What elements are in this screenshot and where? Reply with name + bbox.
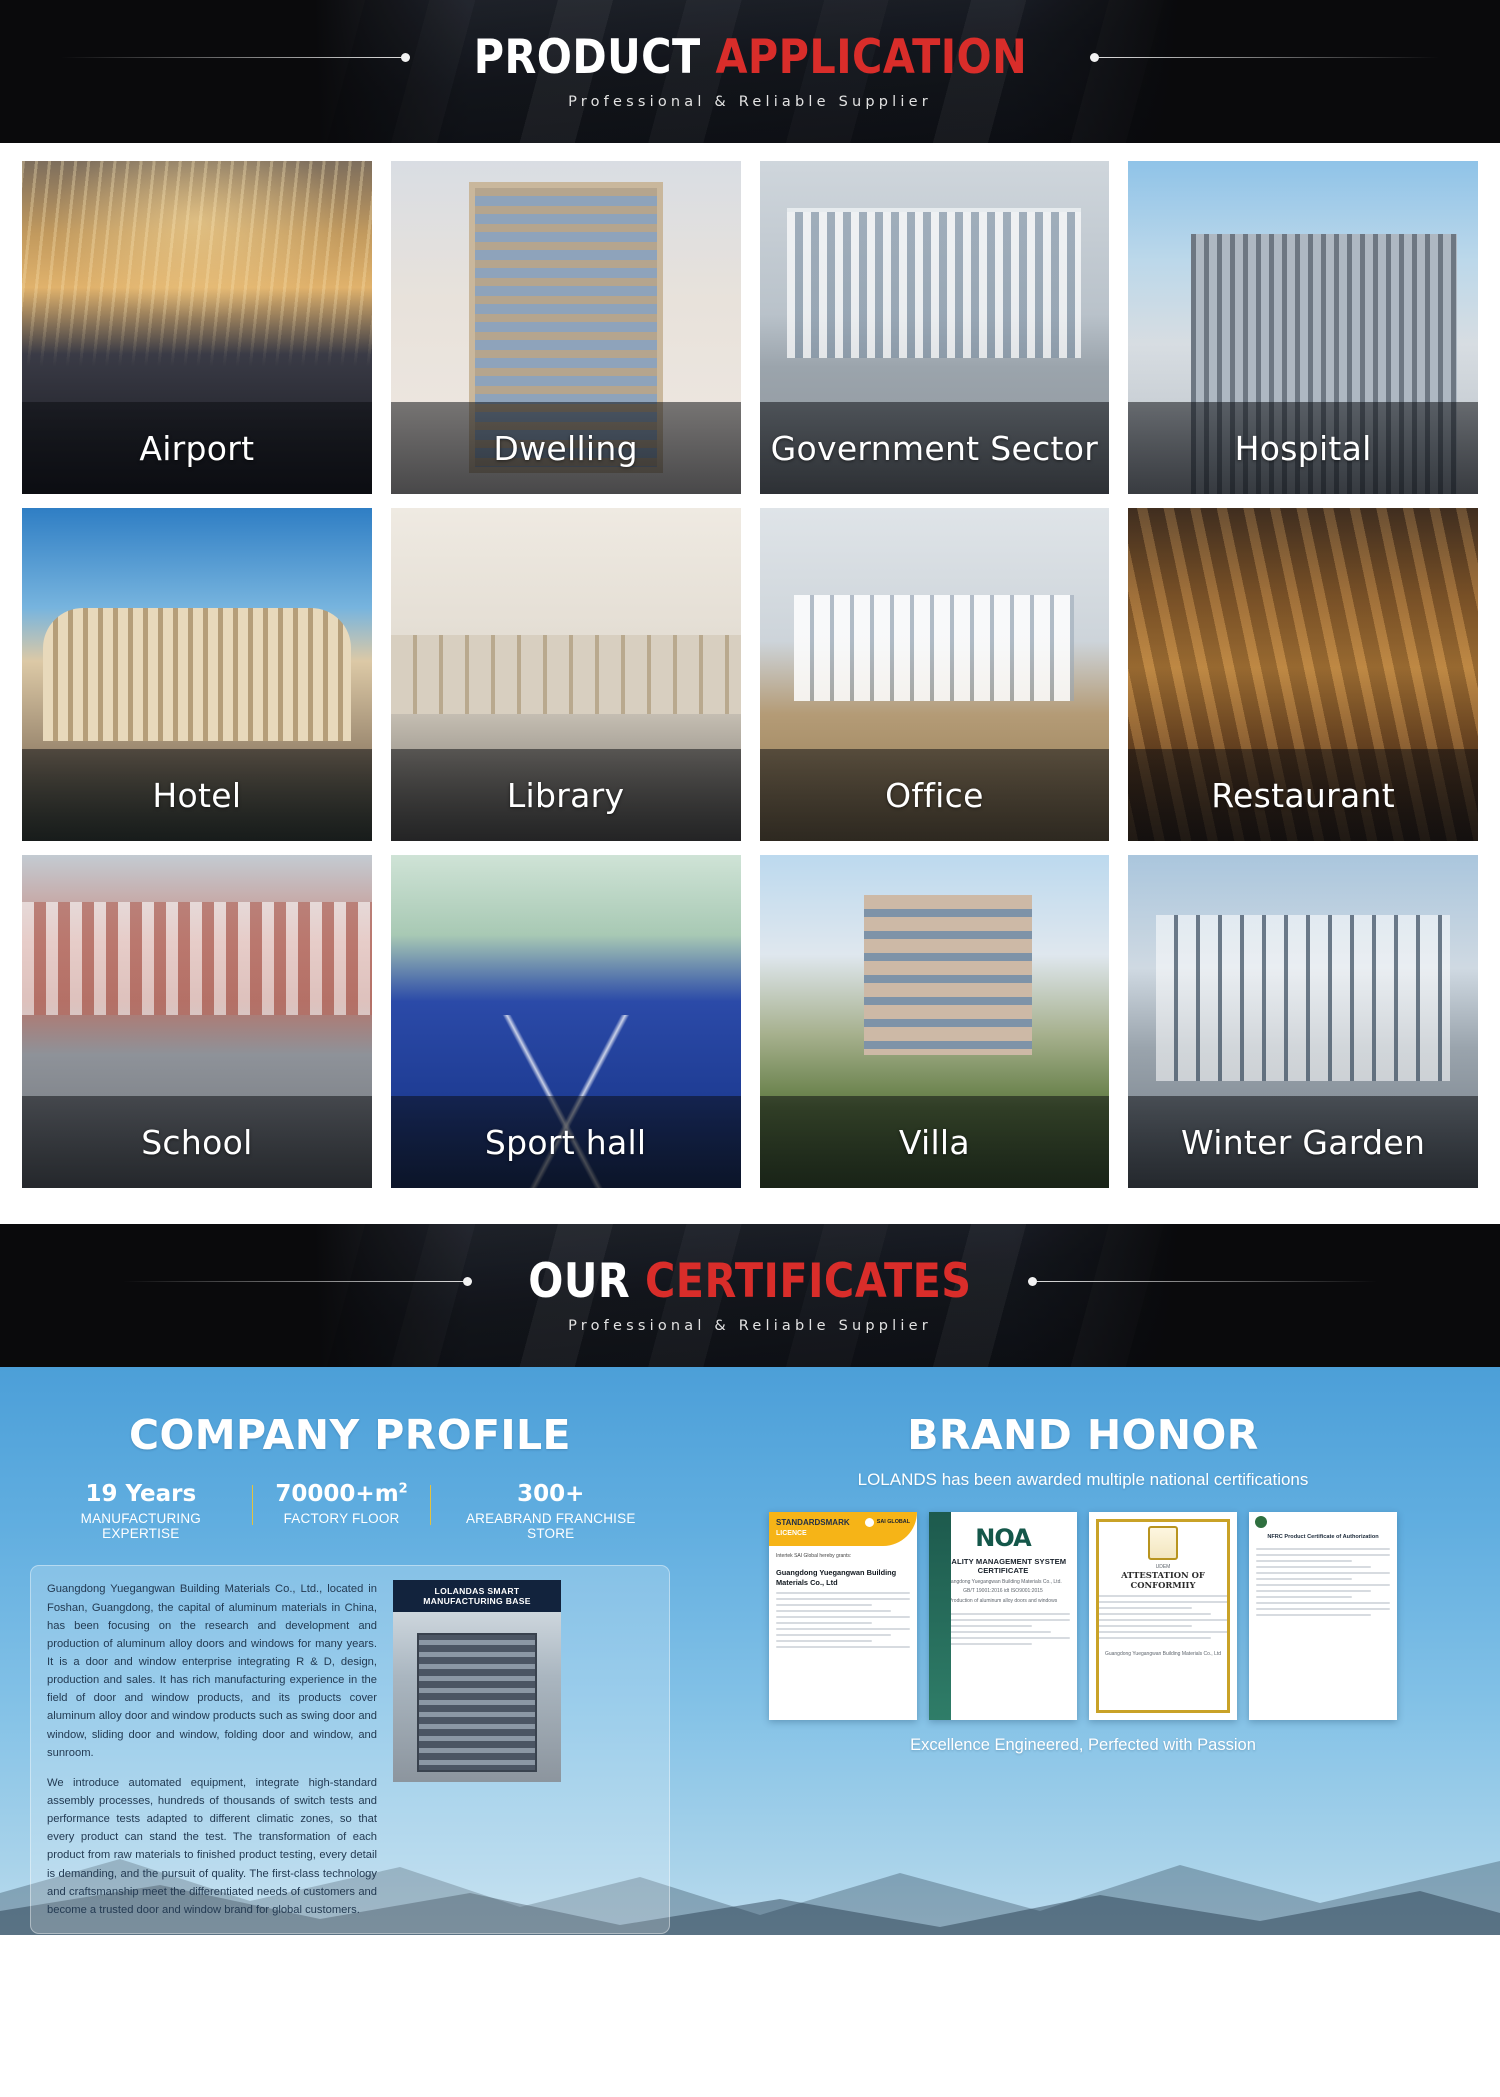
sai-global-text: SAI GLOBAL	[877, 1519, 910, 1525]
company-profile-panel: COMPANY PROFILE 19 Years MANUFACTURING E…	[0, 1367, 1500, 1935]
page-title: PRODUCT APPLICATION	[450, 34, 1049, 81]
factory-thumbnail: LOLANDAS SMART MANUFACTURING BASE	[393, 1580, 561, 1919]
page-subtitle: Professional & Reliable Supplier	[568, 94, 932, 110]
brand-honor-tagline: Excellence Engineered, Perfected with Pa…	[696, 1736, 1470, 1755]
nfrc-logo-icon	[1255, 1516, 1267, 1528]
brand-honor-subtitle: LOLANDS has been awarded multiple nation…	[696, 1469, 1470, 1492]
application-card-label: Hotel	[22, 749, 372, 841]
application-card-label: Restaurant	[1128, 749, 1478, 841]
our-certificates-banner: OUR CERTIFICATES Professional & Reliable…	[0, 1224, 1500, 1367]
company-description: Guangdong Yuegangwan Building Materials …	[47, 1580, 377, 1919]
company-paragraph-2: We introduce automated equipment, integr…	[47, 1774, 377, 1919]
noa-scope: Production of aluminum alloy doors and w…	[935, 1598, 1071, 1605]
noa-title: QUALITY MANAGEMENT SYSTEM CERTIFICATE	[935, 1557, 1071, 1576]
stat-value: 70000+m2	[275, 1481, 407, 1507]
certificates-title-white: OUR	[528, 1254, 645, 1309]
stat-label: AREABRAND FRANCHISE STORE	[453, 1511, 648, 1541]
brand-honor-column: BRAND HONOR LOLANDS has been awarded mul…	[670, 1411, 1470, 1934]
stat-value: 300+	[453, 1481, 648, 1507]
page-title-red: APPLICATION	[715, 30, 1027, 85]
decorative-rule-left	[61, 57, 401, 58]
brand-honor-heading: BRAND HONOR	[696, 1411, 1470, 1459]
certificate-standardsmark[interactable]: STANDARDSMARK LICENCE SAI GLOBAL Interte…	[769, 1512, 917, 1720]
application-card-label: School	[22, 1096, 372, 1188]
application-card-label: Library	[391, 749, 741, 841]
application-card-airport[interactable]: Airport	[22, 161, 372, 494]
company-profile-card: Guangdong Yuegangwan Building Materials …	[30, 1565, 670, 1934]
application-card-hotel[interactable]: Hotel	[22, 508, 372, 841]
application-card-label: Airport	[22, 402, 372, 494]
factory-caption: LOLANDAS SMART MANUFACTURING BASE	[393, 1580, 561, 1612]
application-card-label: Office	[760, 749, 1110, 841]
standardsmark-banner: STANDARDSMARK LICENCE SAI GLOBAL	[769, 1512, 917, 1546]
factory-photo	[393, 1612, 561, 1782]
standardsmark-sub: LICENCE	[776, 1530, 850, 1537]
product-application-banner: PRODUCT APPLICATION Professional & Relia…	[0, 0, 1500, 143]
company-profile-heading: COMPANY PROFILE	[30, 1411, 670, 1459]
application-card-label: Winter Garden	[1128, 1096, 1478, 1188]
application-card-dwelling[interactable]: Dwelling	[391, 161, 741, 494]
decorative-rule-right	[1099, 57, 1439, 58]
certificate-body-lines	[1249, 1543, 1397, 1625]
stat-factory-floor: 70000+m2 FACTORY FLOOR	[253, 1481, 429, 1526]
sai-global-logo: SAI GLOBAL	[865, 1518, 910, 1527]
noa-company: Guangdong Yuegangwan Building Materials …	[935, 1579, 1071, 1586]
application-card-library[interactable]: Library	[391, 508, 741, 841]
decorative-dot-right	[1090, 53, 1099, 62]
certificate-udem-conformity[interactable]: UDEM ATTESTATION OF CONFORMIIY Guangdong…	[1089, 1512, 1237, 1720]
sai-global-mark-icon	[865, 1518, 874, 1527]
application-card-restaurant[interactable]: Restaurant	[1128, 508, 1478, 841]
udem-gold-frame	[1096, 1519, 1230, 1713]
stat-value: 19 Years	[52, 1481, 230, 1507]
certificate-noa-quality[interactable]: NOA QUALITY MANAGEMENT SYSTEM CERTIFICAT…	[929, 1512, 1077, 1720]
noa-standard: GB/T 19001:2016 idt ISO9001:2015	[935, 1588, 1071, 1595]
certificates-title: OUR CERTIFICATES	[505, 1258, 994, 1305]
noa-side-band	[929, 1512, 951, 1720]
banner-title-row: PRODUCT APPLICATION	[0, 34, 1500, 81]
certificates-subtitle: Professional & Reliable Supplier	[568, 1318, 932, 1334]
certificate-nfrc-authorization[interactable]: NFRC Product Certificate of Authorizatio…	[1249, 1512, 1397, 1720]
noa-logo: NOA	[929, 1524, 1077, 1552]
application-card-hospital[interactable]: Hospital	[1128, 161, 1478, 494]
application-card-villa[interactable]: Villa	[760, 855, 1110, 1188]
nfrc-title: NFRC Product Certificate of Authorizatio…	[1249, 1528, 1397, 1543]
decorative-rule-right	[1037, 1281, 1377, 1282]
stat-manufacturing-expertise: 19 Years MANUFACTURING EXPERTISE	[30, 1481, 252, 1541]
company-stats: 19 Years MANUFACTURING EXPERTISE 70000+m…	[30, 1481, 670, 1541]
decorative-dot-left	[463, 1277, 472, 1286]
application-grid: Airport Dwelling Government Sector Hospi…	[22, 161, 1478, 1188]
certificate-body-lines	[769, 1587, 917, 1657]
application-card-label: Dwelling	[391, 402, 741, 494]
noa-head: QUALITY MANAGEMENT SYSTEM CERTIFICATE Gu…	[929, 1552, 1077, 1608]
decorative-rule-left	[123, 1281, 463, 1282]
stat-label: MANUFACTURING EXPERTISE	[52, 1511, 230, 1541]
standardsmark-name: STANDARDSMARK	[776, 1518, 850, 1528]
application-card-label: Sport hall	[391, 1096, 741, 1188]
company-paragraph-1: Guangdong Yuegangwan Building Materials …	[47, 1580, 377, 1761]
application-card-school[interactable]: School	[22, 855, 372, 1188]
decorative-dot-left	[401, 53, 410, 62]
banner-title-row: OUR CERTIFICATES	[0, 1258, 1500, 1305]
stat-value-text: 70000+m	[275, 1481, 398, 1507]
decorative-dot-right	[1028, 1277, 1037, 1286]
page-title-white: PRODUCT	[473, 30, 715, 85]
application-card-winter-garden[interactable]: Winter Garden	[1128, 855, 1478, 1188]
stat-label: FACTORY FLOOR	[275, 1511, 407, 1526]
application-card-label: Government Sector	[760, 402, 1110, 494]
stat-franchise-store: 300+ AREABRAND FRANCHISE STORE	[431, 1481, 670, 1541]
standardsmark-company: Guangdong Yuegangwan Building Materials …	[769, 1561, 917, 1587]
application-card-office[interactable]: Office	[760, 508, 1110, 841]
application-card-government-sector[interactable]: Government Sector	[760, 161, 1110, 494]
application-grid-section: Airport Dwelling Government Sector Hospi…	[0, 143, 1500, 1224]
application-card-label: Hospital	[1128, 402, 1478, 494]
standardsmark-grant-line: Intertek SAI Global hereby grants:	[769, 1546, 917, 1559]
stat-value-superscript: 2	[399, 1481, 408, 1496]
application-card-label: Villa	[760, 1096, 1110, 1188]
application-card-sport-hall[interactable]: Sport hall	[391, 855, 741, 1188]
certificate-body-lines	[929, 1608, 1077, 1654]
certificate-gallery: STANDARDSMARK LICENCE SAI GLOBAL Interte…	[696, 1512, 1470, 1720]
certificates-title-red: CERTIFICATES	[645, 1254, 972, 1309]
company-profile-column: COMPANY PROFILE 19 Years MANUFACTURING E…	[30, 1411, 670, 1934]
